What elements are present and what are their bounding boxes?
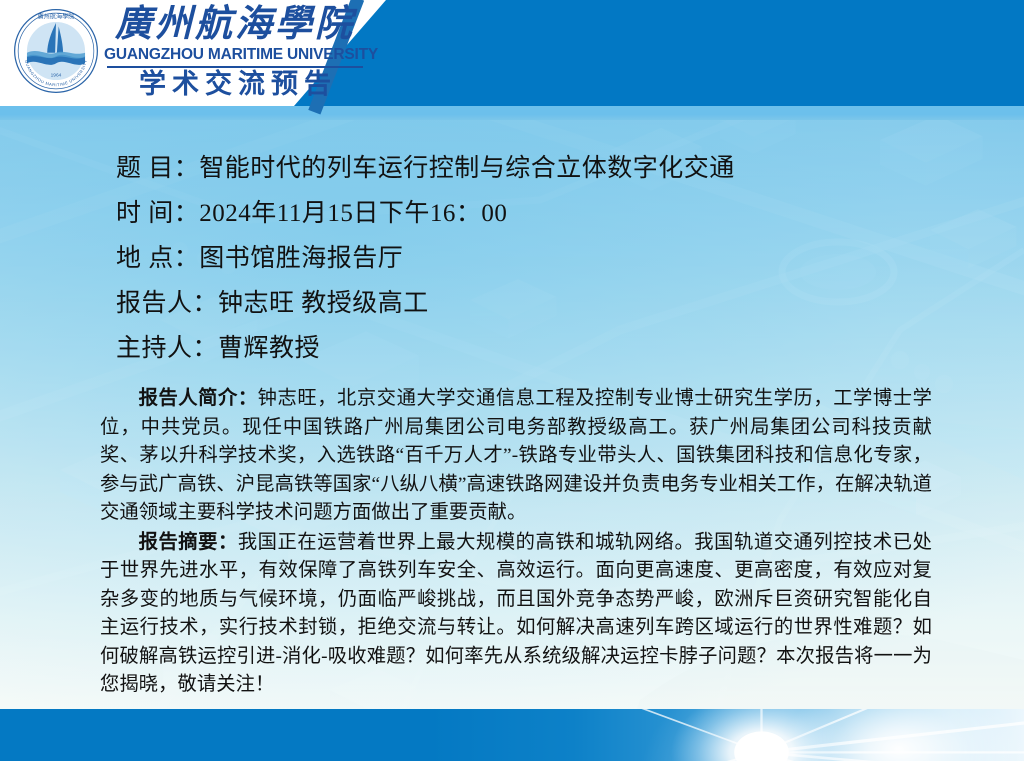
- info-line-venue: 地 点：图书馆胜海报告厅: [116, 236, 1024, 281]
- abstract-paragraph: 报告摘要：我国正在运营着世界上最大规模的高铁和城轨网络。我国轨道交通列控技术已处…: [100, 529, 932, 700]
- seminar-poster: 1964 廣州航海學院 GUANGZHOU MARITIME UNIVERSIT…: [0, 0, 1024, 761]
- speaker-bio-paragraph: 报告人简介：钟志旺，北京交通大学交通信息工程及控制专业博士研究生学历，工学博士学…: [100, 385, 932, 528]
- event-info-block: 题 目：智能时代的列车运行控制与综合立体数字化交通 时 间：2024年11月15…: [0, 120, 1024, 371]
- info-line-title: 题 目：智能时代的列车运行控制与综合立体数字化交通: [116, 146, 1024, 191]
- footer-glow: [734, 709, 1024, 761]
- poster-paragraphs: 报告人简介：钟志旺，北京交通大学交通信息工程及控制专业博士研究生学历，工学博士学…: [0, 371, 1024, 761]
- poster-header: 1964 廣州航海學院 GUANGZHOU MARITIME UNIVERSIT…: [0, 0, 1024, 106]
- poster-content: 题 目：智能时代的列车运行控制与综合立体数字化交通 时 间：2024年11月15…: [0, 120, 1024, 761]
- university-name-cn: 廣州航海學院: [104, 4, 366, 46]
- svg-text:1964: 1964: [51, 73, 62, 79]
- info-line-speaker: 报告人：钟志旺 教授级高工: [116, 281, 1024, 326]
- info-line-time: 时 间：2024年11月15日下午16：00: [116, 191, 1024, 236]
- university-name-en: GUANGZHOU MARITIME UNIVERSITY: [104, 46, 366, 64]
- banner-subtitle: 学术交流预告: [104, 68, 366, 100]
- header-accent-band: [0, 106, 1024, 120]
- svg-text:廣州航海學院: 廣州航海學院: [38, 12, 75, 20]
- abstract-label: 报告摘要：: [139, 532, 238, 553]
- university-seal-icon: 1964 廣州航海學院 GUANGZHOU MARITIME UNIVERSIT…: [12, 7, 100, 95]
- abstract-text: 我国正在运营着世界上最大规模的高铁和城轨网络。我国轨道交通列控技术已处于世界先进…: [100, 532, 932, 696]
- info-line-host: 主持人：曹辉教授: [116, 326, 1024, 371]
- wordmark: 廣州航海學院 GUANGZHOU MARITIME UNIVERSITY 学术交…: [104, 4, 366, 100]
- poster-footer: [0, 709, 1024, 761]
- speaker-bio-label: 报告人简介：: [139, 388, 258, 409]
